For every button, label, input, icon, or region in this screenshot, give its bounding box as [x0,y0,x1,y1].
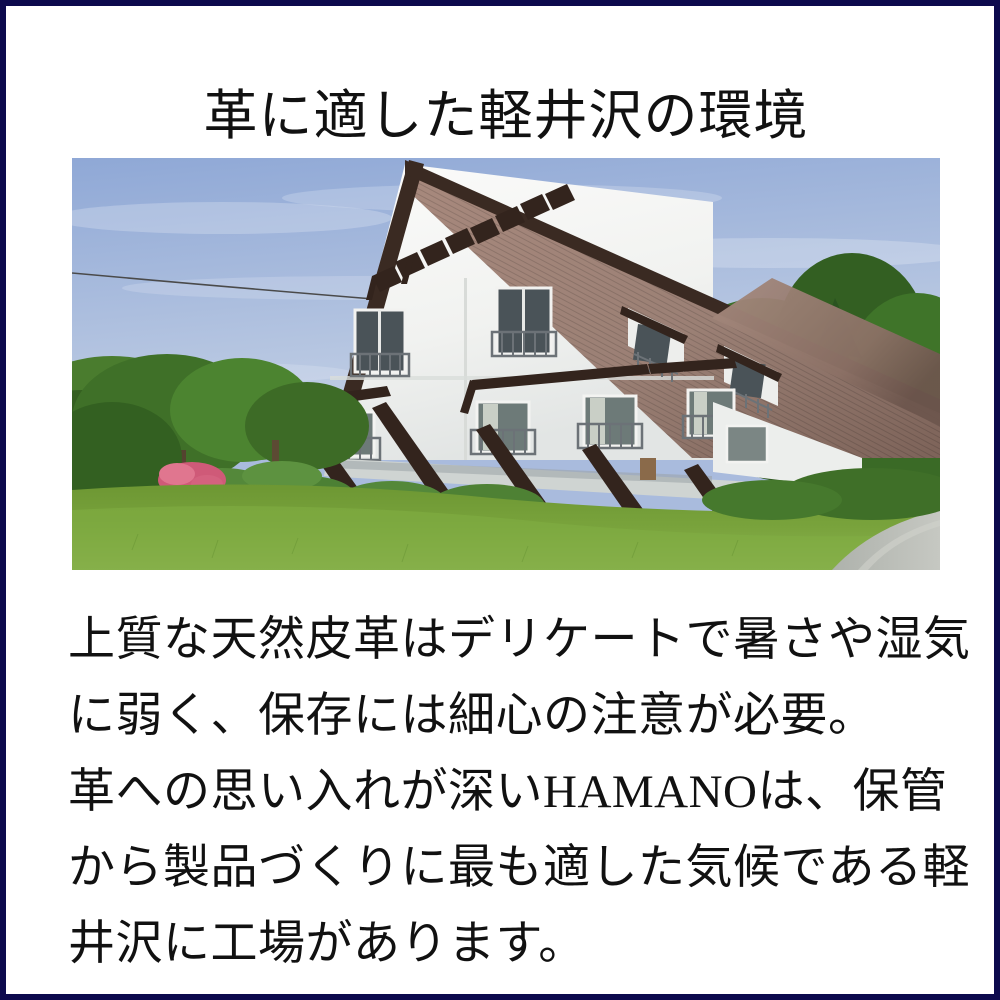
body-line-5: 井沢に工場があります。 [68,906,948,982]
wall-seam [464,278,467,460]
body-line-3: 革への思い入れが深いHAMANOは、保管 [68,754,948,830]
body-line-4: から製品づくりに最も適した気候である軽 [68,830,948,906]
body-copy: 上質な天然皮革はデリケートで暑さや湿気 に弱く、保存には細心の注意が必要。 革へ… [68,602,948,982]
page-title: 革に適した軽井沢の環境 [6,84,1000,148]
right-wing-window [727,426,767,462]
upper-window-left [351,310,409,376]
exterior-box [640,458,656,480]
body-line-1: 上質な天然皮革はデリケートで暑さや湿気 [68,602,948,678]
promo-page: 革に適した軽井沢の環境 [0,0,1000,1000]
photo-illustration [72,158,940,570]
body-line-2: に弱く、保存には細心の注意が必要。 [68,678,948,754]
upper-window-right [492,288,556,356]
lower-window-3 [578,396,642,448]
karuizawa-factory-photo [72,158,940,570]
